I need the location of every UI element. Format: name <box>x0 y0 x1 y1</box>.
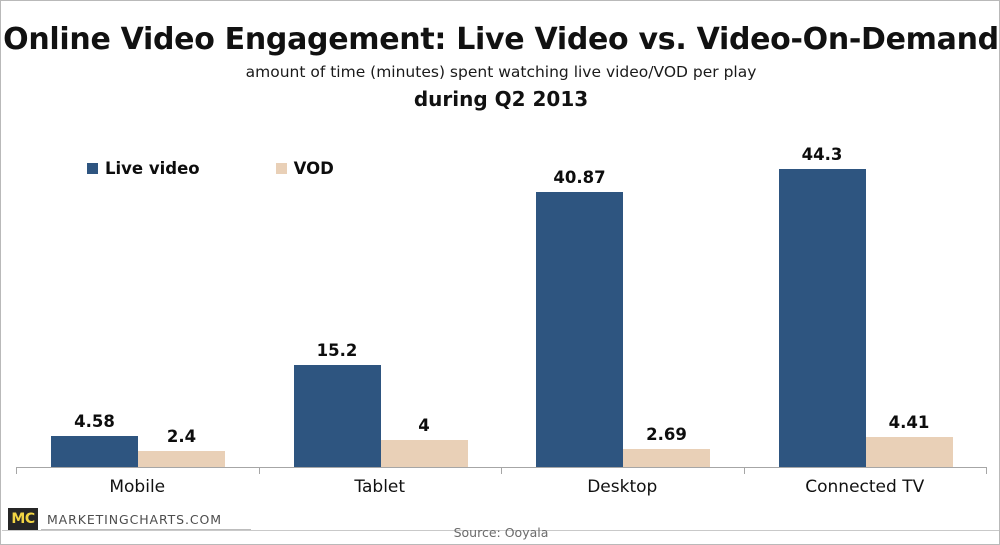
axis-tick <box>501 467 502 474</box>
bar-vod[interactable]: 4.41 <box>866 437 953 467</box>
x-axis-category-labels: MobileTabletDesktopConnected TV <box>16 477 986 503</box>
bar-value-label: 40.87 <box>553 168 605 187</box>
axis-tick <box>16 467 17 474</box>
bar-value-label: 4.41 <box>889 413 930 432</box>
bar-live-video[interactable]: 4.58 <box>51 436 138 467</box>
bar-value-label: 4.58 <box>74 412 115 431</box>
category-label: Tablet <box>259 477 502 497</box>
axis-tick <box>259 467 260 474</box>
source-note: Source: Ooyala <box>1 525 1000 540</box>
bar-value-label: 4 <box>418 416 429 435</box>
bar-value-label: 44.3 <box>802 145 843 164</box>
bar-vod[interactable]: 4 <box>381 440 468 467</box>
bar-vod[interactable]: 2.4 <box>138 451 225 467</box>
plot-area: 4.582.415.2440.872.6944.34.41 <box>16 121 986 467</box>
title-block: Online Video Engagement: Live Video vs. … <box>1 23 1000 110</box>
bar-value-label: 2.69 <box>646 425 687 444</box>
bar-value-label: 2.4 <box>167 427 196 446</box>
bar-live-video[interactable]: 15.2 <box>294 365 381 467</box>
bar-group: 15.24 <box>259 121 502 467</box>
bar-vod[interactable]: 2.69 <box>623 449 710 467</box>
chart-period: during Q2 2013 <box>1 88 1000 110</box>
bar-group: 4.582.4 <box>16 121 259 467</box>
axis-tick <box>744 467 745 474</box>
bar-group: 44.34.41 <box>744 121 987 467</box>
chart-container: Online Video Engagement: Live Video vs. … <box>0 0 1000 545</box>
bar-live-video[interactable]: 44.3 <box>779 169 866 467</box>
category-label: Desktop <box>501 477 744 497</box>
bar-group: 40.872.69 <box>501 121 744 467</box>
category-label: Connected TV <box>744 477 987 497</box>
page-title: Online Video Engagement: Live Video vs. … <box>1 23 1000 56</box>
chart-subtitle: amount of time (minutes) spent watching … <box>1 64 1000 82</box>
axis-tick <box>986 467 987 474</box>
bar-value-label: 15.2 <box>317 341 358 360</box>
bar-live-video[interactable]: 40.87 <box>536 192 623 467</box>
category-label: Mobile <box>16 477 259 497</box>
